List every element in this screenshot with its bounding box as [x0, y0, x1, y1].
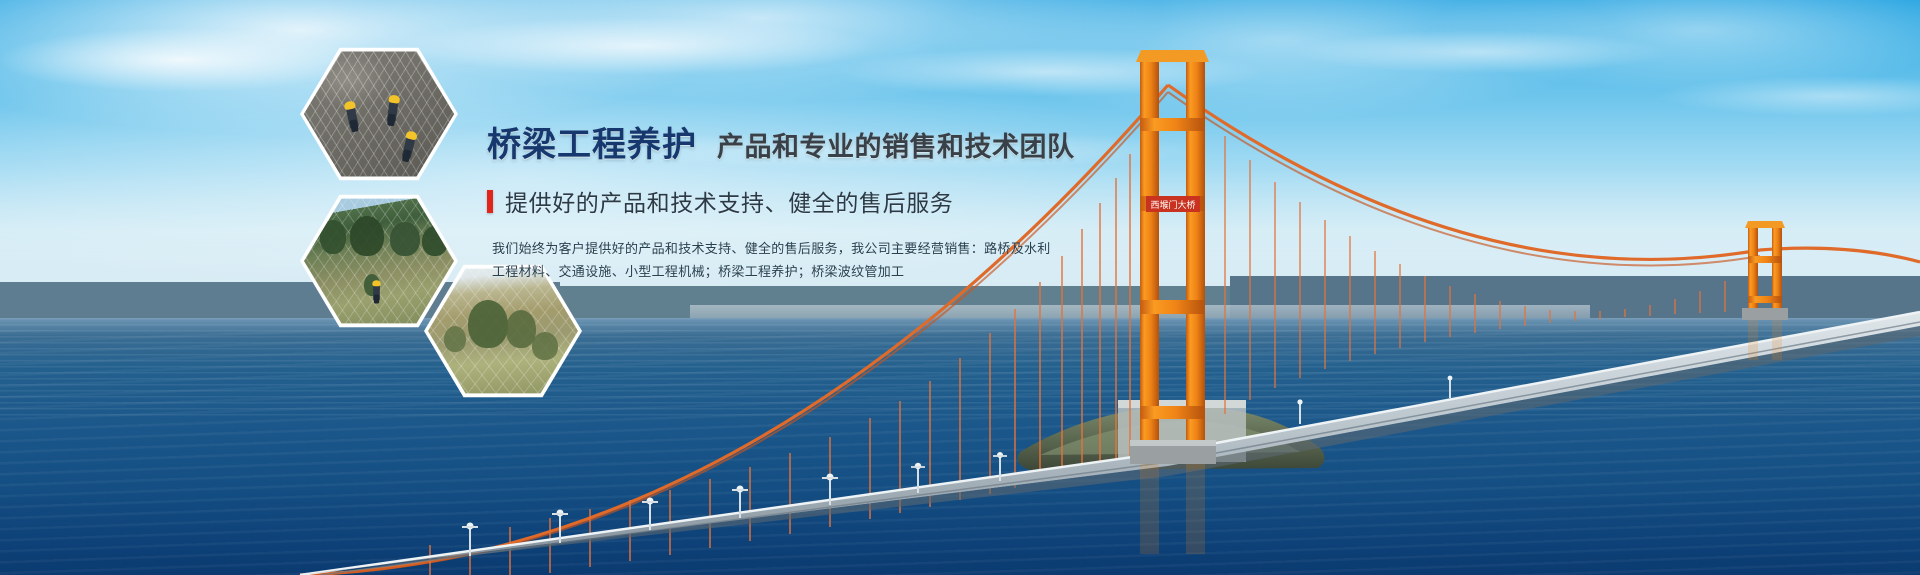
banner-body-text: 我们始终为客户提供好的产品和技术支持、健全的售后服务，我公司主要经营销售：路桥及…: [492, 238, 912, 284]
hero-banner: 西堠门大桥: [0, 0, 1920, 575]
headline-primary: 桥梁工程养护: [487, 128, 697, 162]
suspension-bridge: 西堠门大桥: [0, 0, 1920, 575]
hex-photo-rock-slope-mesh: [300, 45, 458, 183]
bridge-tower-secondary: [1742, 221, 1788, 320]
subheadline-row: 提供好的产品和技术支持、健全的售后服务: [487, 184, 1107, 218]
accent-bar: [487, 190, 493, 213]
body-line-2: 工程材料、交通设施、小型工程机械；桥梁工程养护；桥梁波纹管加工: [492, 261, 912, 284]
body-line-1: 我们始终为客户提供好的产品和技术支持、健全的售后服务，我公司主要经营销售：路桥及…: [492, 238, 912, 261]
subheadline-text: 提供好的产品和技术支持、健全的售后服务: [505, 184, 953, 218]
svg-text:西堠门大桥: 西堠门大桥: [1150, 199, 1195, 211]
headline-row: 桥梁工程养护 产品和专业的销售和技术团队: [487, 128, 1107, 162]
banner-copy: 桥梁工程养护 产品和专业的销售和技术团队 提供好的产品和技术支持、健全的售后服务…: [487, 128, 1107, 284]
headline-secondary: 产品和专业的销售和技术团队: [717, 134, 1075, 161]
